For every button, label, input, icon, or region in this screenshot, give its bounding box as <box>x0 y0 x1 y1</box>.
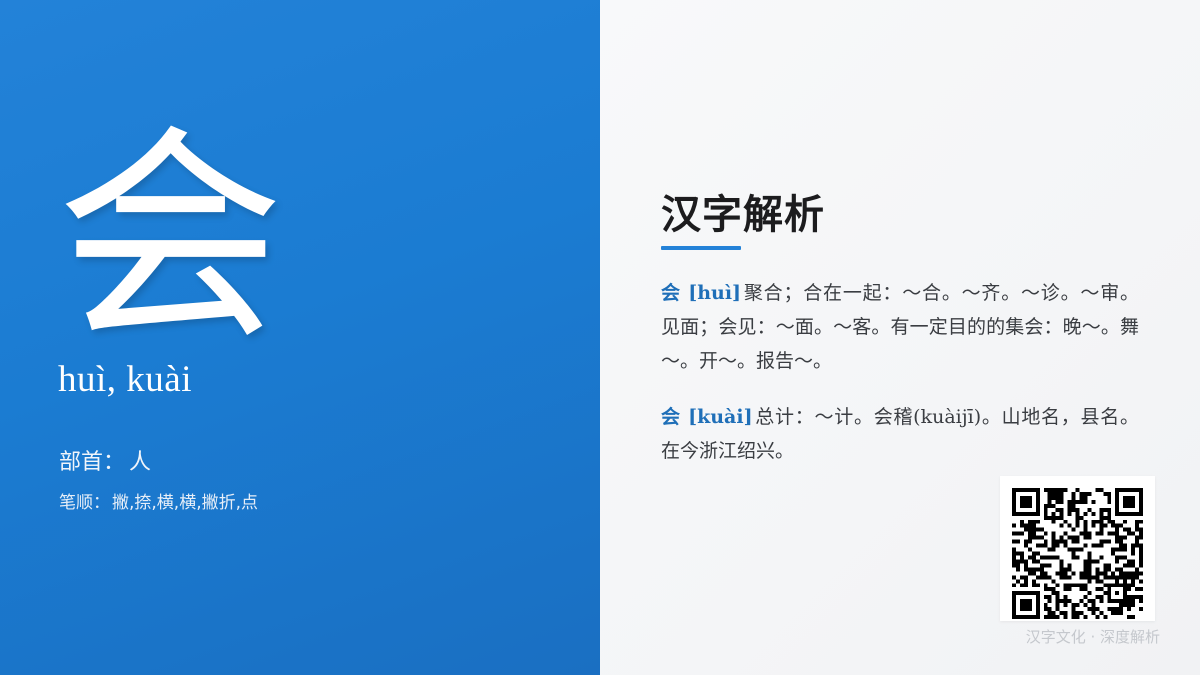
title-accent-rule <box>661 246 741 250</box>
character-panel: 会 huì, kuài 部首：人 笔顺：撇,捺,横,横,撇折,点 <box>0 0 600 675</box>
hanzi-character-display: 会 <box>56 128 356 348</box>
radical-label: 部首： <box>59 450 125 475</box>
page-title: 汉字解析 <box>661 182 825 240</box>
radical-row: 部首：人 <box>59 444 151 476</box>
radical-value: 人 <box>125 450 151 475</box>
character-panel-content: 会 huì, kuài 部首：人 笔顺：撇,捺,横,横,撇折,点 <box>56 0 556 675</box>
stroke-order-label: 笔顺： <box>59 493 110 513</box>
analysis-panel: 汉字解析 会 [huì]聚合；合在一起：～合。～齐。～诊。～审。见面；会见：～面… <box>600 0 1200 675</box>
qr-card <box>1000 476 1155 621</box>
definition-entry: 会 [kuài]总计：～计。会稽(kuàijī)。山地名，县名。在今浙江绍兴。 <box>661 400 1139 468</box>
stroke-order-value: 撇,捺,横,横,撇折,点 <box>110 493 258 513</box>
stroke-order-row: 笔顺：撇,捺,横,横,撇折,点 <box>59 488 258 513</box>
qr-code-icon <box>1012 488 1143 619</box>
footer-caption: 汉字文化 · 深度解析 <box>600 626 1160 647</box>
hanzi-card-slide: 会 huì, kuài 部首：人 笔顺：撇,捺,横,横,撇折,点 汉字解析 会 … <box>0 0 1200 675</box>
pinyin-readings: huì, kuài <box>58 358 192 401</box>
definition-entry: 会 [huì]聚合；合在一起：～合。～齐。～诊。～审。见面；会见：～面。～客。有… <box>661 276 1139 378</box>
definition-headword: 会 [huì] <box>661 282 741 304</box>
definition-headword: 会 [kuài] <box>661 406 753 428</box>
